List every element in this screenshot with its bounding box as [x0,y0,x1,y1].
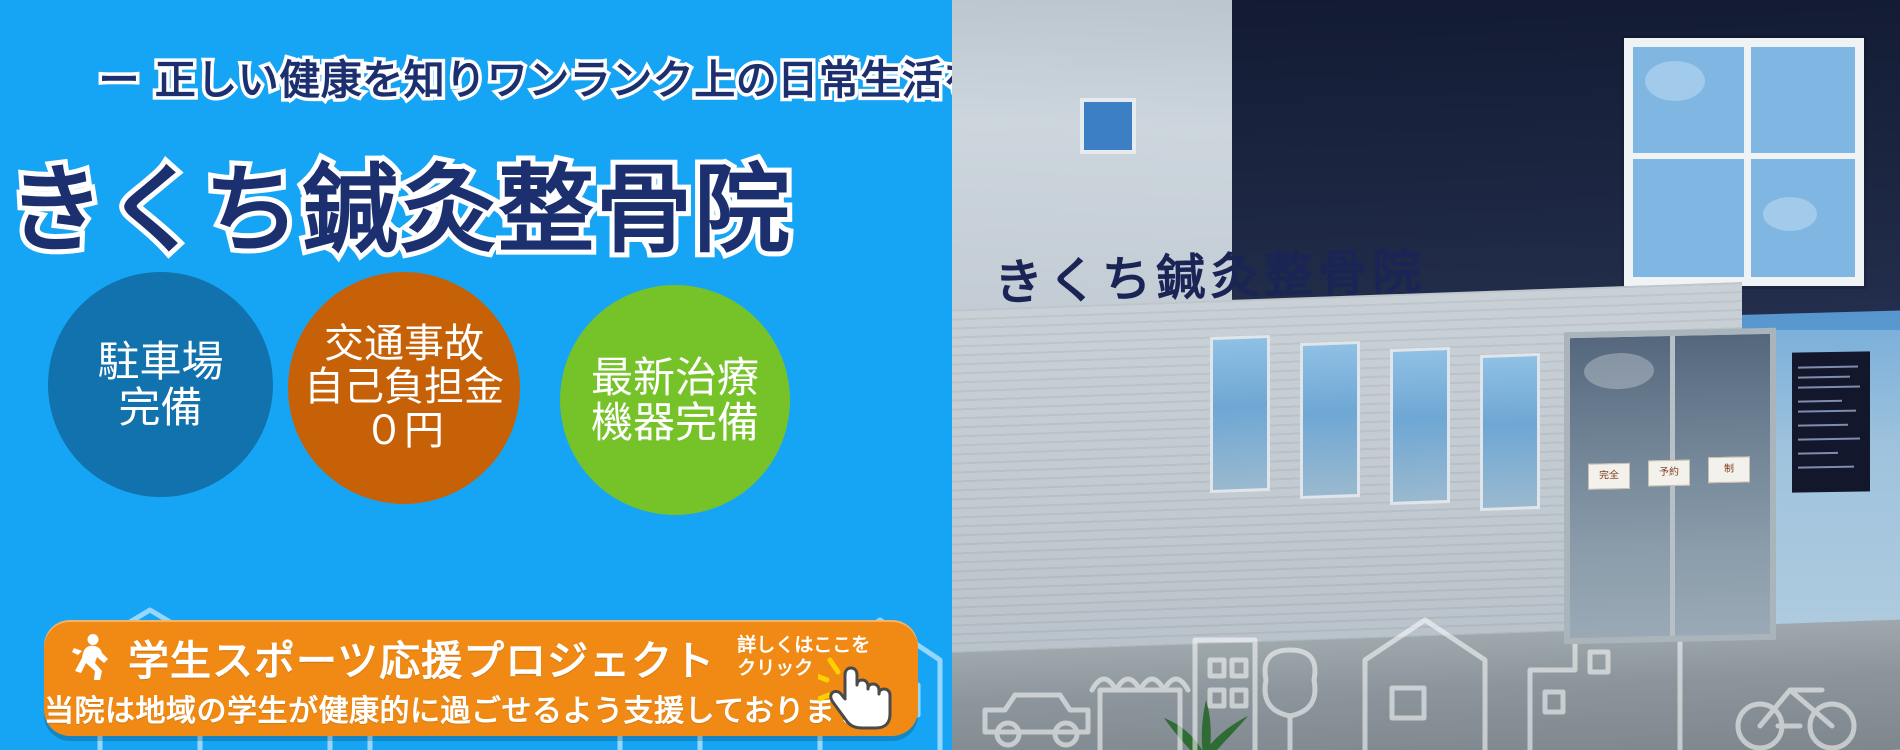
student-sports-project-cta[interactable]: 学生スポーツ応援プロジェクト 詳しくはここを クリック 当院は地域の学生が健康的… [44,620,918,736]
badge-accident-line3: ０円 [304,410,504,453]
badge-equipment-line2: 機器完備 [591,400,759,445]
clinic-name-title: きくち鍼灸整骨院 [0,132,800,271]
badge-accident-line1: 交通事故 [304,323,504,366]
badge-traffic-accident: 交通事故 自己負担金 ０円 [288,272,520,504]
facade-window-1 [1210,335,1270,493]
badge-equipment-line1: 最新治療 [591,355,759,400]
badge-parking-line2: 完備 [97,385,223,430]
plant-icon [1144,672,1264,750]
hero-banner: ー 正しい健康を知りワンランク上の日常生活を送れますように ー きくち鍼灸整骨院… [0,0,1900,750]
facade-window-2 [1300,341,1360,499]
door-label-3: 制 [1708,456,1750,483]
small-upper-window [1080,98,1136,154]
facade-window-3 [1390,347,1450,505]
badge-parking: 駐車場 完備 [48,272,273,497]
door-label-1: 完全 [1588,463,1630,490]
entrance-doors: 完全 予約 制 [1564,328,1776,644]
badge-latest-equipment: 最新治療 機器完備 [560,285,790,515]
hero-tagline: ー 正しい健康を知りワンランク上の日常生活を送れますように ー [0,46,952,106]
notice-board [1792,351,1870,492]
cta-subtitle: 当院は地域の学生が健康的に過ごせるよう支援しております。 [44,686,892,730]
running-person-icon [70,633,114,681]
cta-title-row: 学生スポーツ応援プロジェクト 詳しくはここを クリック [44,631,918,683]
clinic-exterior-photo: きくち鍼灸整骨院 完全 予約 制 [952,0,1900,750]
cta-title: 学生スポーツ応援プロジェクト [128,627,715,687]
facade-window-4 [1480,353,1540,511]
pointing-hand-icon [818,650,902,734]
badge-parking-line1: 駐車場 [97,339,223,384]
badge-accident-line2: 自己負担金 [304,366,504,409]
tall-right-window [1624,38,1864,286]
door-label-2: 予約 [1648,460,1690,487]
